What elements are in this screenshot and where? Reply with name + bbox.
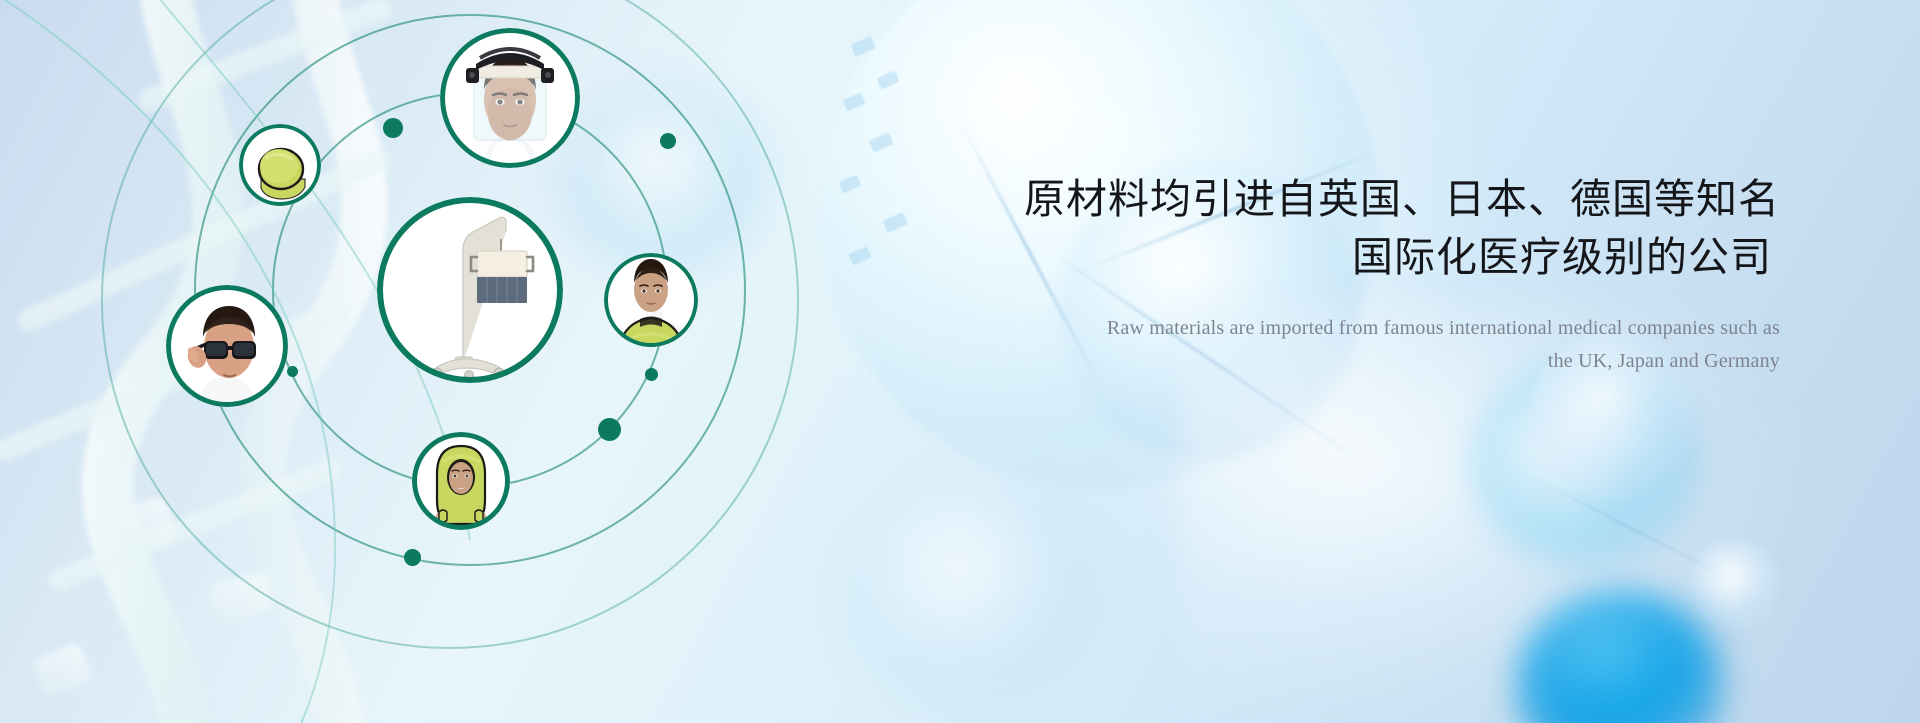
face-shield-illustration [440, 28, 580, 168]
subtitle-line-1: Raw materials are imported from famous i… [1107, 317, 1780, 339]
banner-copy: 原材料均引进自英国、日本、德国等知名 国际化医疗级别的公司 Raw materi… [1020, 170, 1780, 377]
face-shield-photo[interactable] [440, 28, 580, 168]
orbit-node [645, 368, 658, 381]
headline: 原材料均引进自英国、日本、德国等知名 国际化医疗级别的公司 [1020, 170, 1780, 286]
protective-hood-illustration [412, 432, 510, 530]
headline-line-2: 国际化医疗级别的公司 [1020, 228, 1780, 286]
protective-glasses-photo[interactable] [166, 285, 288, 407]
orbit-node [598, 418, 621, 441]
headline-line-1: 原材料均引进自英国、日本、德国等知名 [1020, 170, 1780, 228]
protective-cap-photo[interactable] [239, 124, 321, 206]
orbit-node [287, 366, 298, 377]
mobile-shield-illustration [377, 197, 563, 383]
orbit-node [660, 133, 676, 149]
thyroid-collar-illustration [604, 253, 698, 347]
protective-cap-illustration [239, 124, 321, 206]
thyroid-collar-photo[interactable] [604, 253, 698, 347]
subtitle: Raw materials are imported from famous i… [1020, 312, 1780, 377]
subtitle-line-2: the UK, Japan and Germany [1020, 345, 1780, 377]
orbit-node [404, 549, 421, 566]
hero-banner: 原材料均引进自英国、日本、德国等知名 国际化医疗级别的公司 Raw materi… [0, 0, 1920, 723]
mobile-shield-photo[interactable] [377, 197, 563, 383]
orbit-node [383, 118, 403, 138]
protective-glasses-illustration [166, 285, 288, 407]
protective-hood-photo[interactable] [412, 432, 510, 530]
